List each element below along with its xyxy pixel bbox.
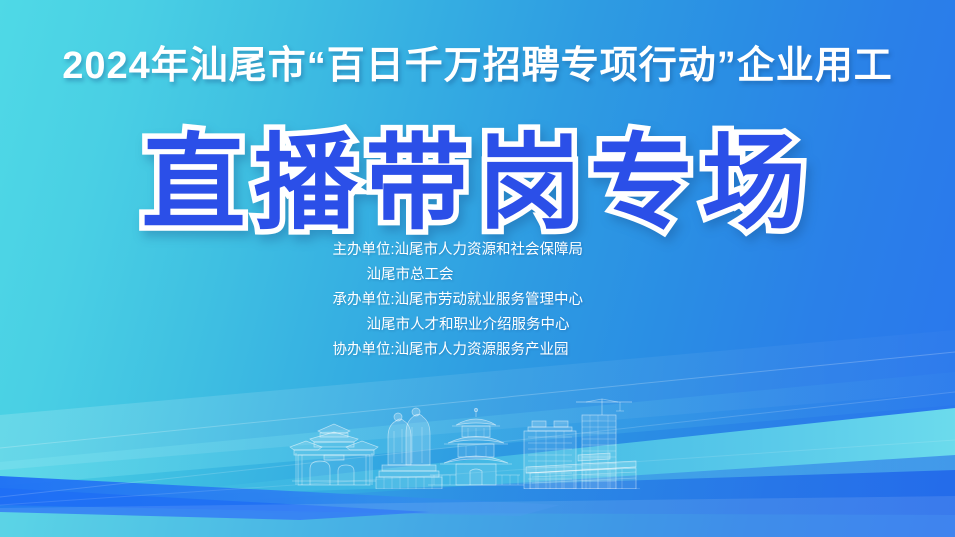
headline: 直播带岗专场 <box>0 98 955 249</box>
page-title: 2024年汕尾市“百日千万招聘专项行动”企业用工 <box>0 34 955 89</box>
statue-monument-icon <box>376 408 442 489</box>
pagoda-tower-icon <box>428 408 524 485</box>
event-poster: 2024年汕尾市“百日千万招聘专项行动”企业用工 直播带岗专场 主办单位:汕尾市… <box>0 0 955 537</box>
archway-gate-icon <box>290 424 378 485</box>
organizer-line-undertaker-2: 汕尾市人才和职业介绍服务中心 <box>299 313 657 338</box>
organizer-line-coorganizer: 协办单位:汕尾市人力资源服务产业园 <box>333 338 623 363</box>
city-skyline-illustration <box>280 397 640 489</box>
organizer-list: 主办单位:汕尾市人力资源和社会保障局 汕尾市总工会 承办单位:汕尾市劳动就业服务… <box>0 238 955 363</box>
organizer-line-host: 主办单位:汕尾市人力资源和社会保障局 <box>333 238 623 263</box>
organizer-line-undertaker: 承办单位:汕尾市劳动就业服务管理中心 <box>333 288 623 313</box>
organizer-line-host-2: 汕尾市总工会 <box>299 263 657 288</box>
